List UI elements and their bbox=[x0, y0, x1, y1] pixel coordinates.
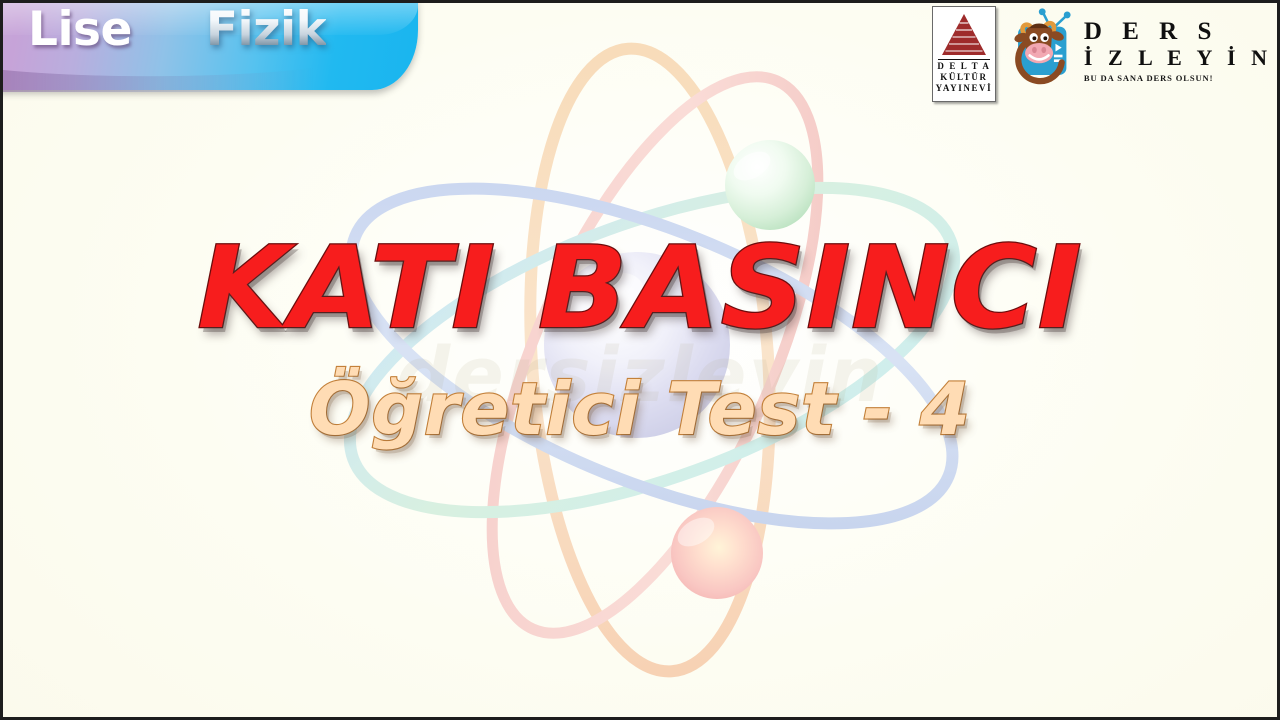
slide-stage: dersizleyin Lise Fizik D E L T A KÜLTÜR bbox=[0, 0, 1280, 720]
brand-word-izleyin: İ Z L E Y İ N bbox=[1084, 45, 1272, 70]
pyramid-icon bbox=[939, 12, 989, 57]
title-block: KATI BASINCI Öğretici Test - 4 bbox=[0, 228, 1280, 450]
brand-word-ders: D E R S bbox=[1084, 18, 1272, 45]
frame-edge-top bbox=[0, 0, 1280, 3]
divider bbox=[938, 59, 990, 60]
electron-green bbox=[725, 140, 815, 230]
frame-edge-left bbox=[0, 0, 3, 720]
brand-tagline: BU DA SANA DERS OLSUN! bbox=[1084, 73, 1272, 83]
delta-kultur-yayinevi-logo[interactable]: D E L T A KÜLTÜR YAYINEVİ bbox=[932, 6, 996, 102]
delta-line-3: YAYINEVİ bbox=[936, 83, 993, 94]
page-subtitle: Öğretici Test - 4 bbox=[0, 368, 1280, 450]
page-title: KATI BASINCI bbox=[0, 228, 1280, 348]
banner-level-label: Lise bbox=[28, 2, 132, 58]
delta-line-1: D E L T A bbox=[937, 61, 990, 72]
ders-izleyin-logo[interactable]: D E R S İ Z L E Y İ N BU DA SANA DERS OL… bbox=[1004, 6, 1272, 94]
logo-row: D E L T A KÜLTÜR YAYINEVİ bbox=[932, 6, 1272, 102]
cow-tv-mascot-icon bbox=[1004, 6, 1082, 94]
delta-line-2: KÜLTÜR bbox=[940, 72, 987, 83]
banner-subject-label: Fizik bbox=[206, 2, 326, 58]
electron-pink bbox=[671, 507, 763, 599]
category-banner[interactable]: Lise Fizik bbox=[0, 0, 418, 90]
